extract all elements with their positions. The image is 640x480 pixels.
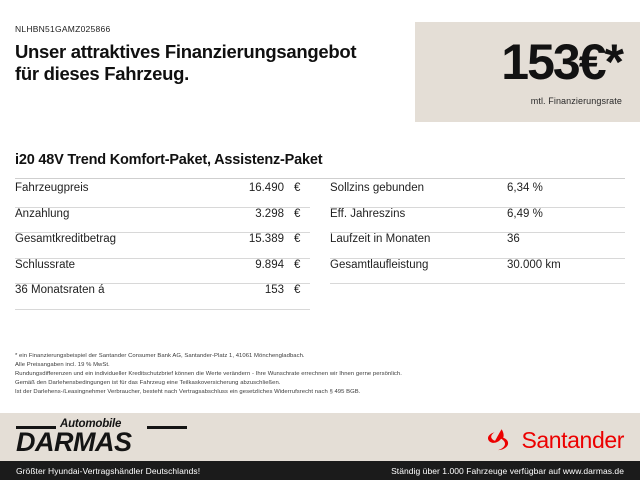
table-row: Fahrzeugpreis 16.490 € [15, 182, 310, 208]
spec-value: 153 [265, 284, 284, 296]
financing-details-column-right: Sollzins gebunden 6,34 % Eff. Jahreszins… [330, 182, 625, 310]
spec-label: Gesamtkreditbetrag [15, 233, 249, 245]
spec-unit: € [284, 284, 310, 296]
spec-label: 36 Monatsraten á [15, 284, 265, 296]
spec-unit: € [284, 182, 310, 194]
table-row: Anzahlung 3.298 € [15, 208, 310, 234]
spec-label: Laufzeit in Monaten [330, 233, 507, 245]
spec-value: 15.389 [249, 233, 284, 245]
vehicle-identification-number: NLHBN51GAMZ025866 [15, 24, 410, 34]
legal-line-3: Rundungsdifferenzen und ein individuelle… [15, 370, 627, 379]
dealer-logo-wordmark: DARMAS [16, 429, 132, 456]
financing-details-column-left: Fahrzeugpreis 16.490 € Anzahlung 3.298 €… [15, 182, 310, 310]
spec-value: 36 [507, 233, 625, 245]
dealer-logo-darmas: Automobile DARMAS [16, 418, 206, 460]
page-title-line-2: für dieses Fahrzeug. [15, 63, 410, 85]
table-row: Gesamtlaufleistung 30.000 km [330, 259, 625, 285]
spec-value: 30.000 km [507, 259, 625, 271]
legal-line-1: * ein Finanzierungsbeispiel der Santande… [15, 352, 627, 361]
spec-label: Fahrzeugpreis [15, 182, 249, 194]
monthly-rate-caption: mtl. Finanzierungsrate [531, 96, 622, 106]
legal-line-5: Ist der Darlehens-/Leasingnehmer Verbrau… [15, 388, 627, 397]
vehicle-model-title: i20 48V Trend Komfort-Paket, Assistenz-P… [15, 152, 625, 179]
spec-unit: € [284, 233, 310, 245]
spec-label: Anzahlung [15, 208, 255, 220]
legal-disclaimer: * ein Finanzierungsbeispiel der Santande… [15, 352, 627, 397]
spec-label: Eff. Jahreszins [330, 208, 507, 220]
financing-offer-page: NLHBN51GAMZ025866 Unser attraktives Fina… [0, 0, 640, 480]
legal-line-2: Alle Preisangaben incl. 19 % MwSt. [15, 361, 627, 370]
page-title-line-1: Unser attraktives Finanzierungsangebot [15, 41, 410, 63]
legal-line-4: Gemäß den Darlehensbedingungen ist für d… [15, 379, 627, 388]
table-row: Laufzeit in Monaten 36 [330, 233, 625, 259]
spec-value: 6,34 % [507, 182, 625, 194]
page-title: Unser attraktives Finanzierungsangebot f… [15, 41, 410, 85]
hero-section: NLHBN51GAMZ025866 Unser attraktives Fina… [0, 0, 640, 135]
financing-details-table: Fahrzeugpreis 16.490 € Anzahlung 3.298 €… [15, 182, 625, 310]
spec-label: Gesamtlaufleistung [330, 259, 507, 271]
footer-bar-right-text: Ständig über 1.000 Fahrzeuge verfügbar a… [391, 466, 624, 476]
table-row: 36 Monatsraten á 153 € [15, 284, 310, 310]
spec-unit: € [284, 208, 310, 220]
table-row: Sollzins gebunden 6,34 % [330, 182, 625, 208]
spec-value: 6,49 % [507, 208, 625, 220]
table-row: Schlussrate 9.894 € [15, 259, 310, 285]
logo-rule-right-icon [147, 426, 187, 429]
table-row: Gesamtkreditbetrag 15.389 € [15, 233, 310, 259]
monthly-rate-highlight-box: 153€* mtl. Finanzierungsrate [415, 22, 640, 122]
spec-label: Sollzins gebunden [330, 182, 507, 194]
bank-logo-santander: Santander [488, 428, 624, 452]
bank-logo-wordmark: Santander [521, 429, 624, 452]
footer-bottom-bar: Größter Hyundai-Vertragshändler Deutschl… [0, 461, 640, 480]
spec-label: Schlussrate [15, 259, 255, 271]
santander-flame-icon [488, 428, 514, 452]
spec-value: 3.298 [255, 208, 284, 220]
monthly-rate-amount: 153€* [501, 37, 622, 87]
spec-value: 16.490 [249, 182, 284, 194]
hero-text-block: NLHBN51GAMZ025866 Unser attraktives Fina… [15, 24, 410, 85]
spec-unit: € [284, 259, 310, 271]
table-row: Eff. Jahreszins 6,49 % [330, 208, 625, 234]
spec-value: 9.894 [255, 259, 284, 271]
footer-bar-left-text: Größter Hyundai-Vertragshändler Deutschl… [16, 466, 200, 476]
